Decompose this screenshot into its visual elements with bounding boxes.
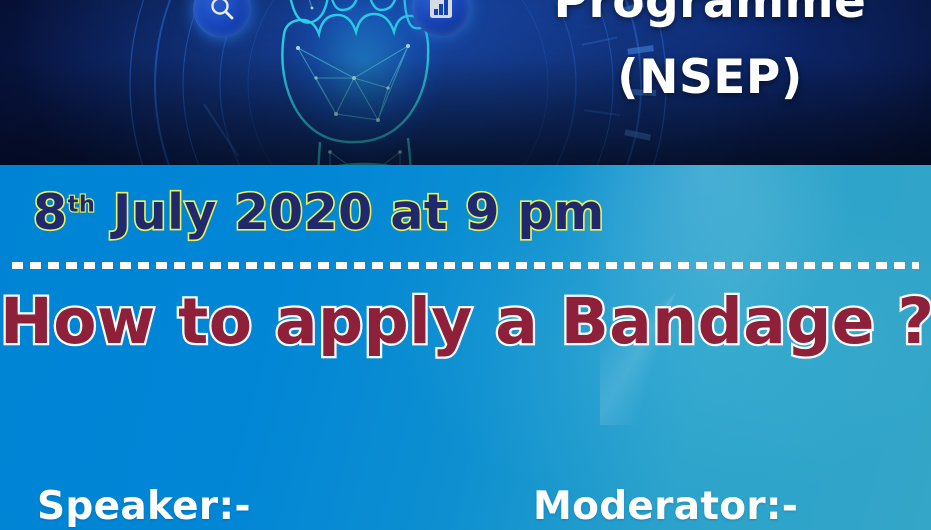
programme-title-line1: Programme — [554, 0, 867, 29]
event-day-ordinal: th — [68, 192, 96, 218]
event-datetime: 8th July 2020 at 9 pm — [33, 188, 605, 237]
event-day: 8 — [33, 184, 68, 241]
page-title: How to apply a Bandage ? — [0, 290, 931, 353]
moderator-label: Moderator:- — [533, 487, 798, 526]
programme-title: Programme (NSEP) — [500, 0, 920, 116]
webinar-poster: Programme (NSEP) 8th July 2020 at 9 pm H… — [0, 0, 931, 530]
poster-header: Programme (NSEP) — [0, 0, 931, 165]
dashed-divider — [12, 262, 919, 269]
speaker-label: Speaker:- — [37, 487, 251, 526]
programme-title-line2: (NSEP) — [500, 40, 920, 116]
event-date-rest: July 2020 at 9 pm — [95, 184, 604, 241]
